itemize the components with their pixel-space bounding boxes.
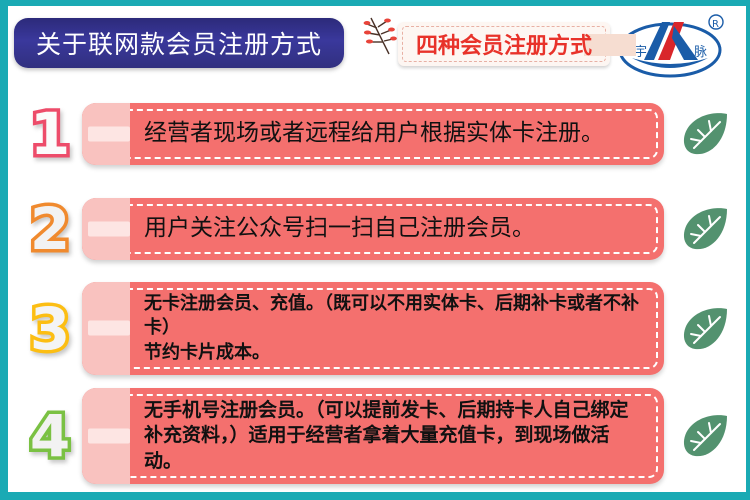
card-tab: [82, 388, 130, 485]
list-item: 1 经营者现场或者远程给用户根据实体卡注册。: [8, 86, 746, 181]
item-number-badge: 2: [8, 200, 82, 258]
item-number-badge: 3: [8, 300, 82, 358]
item-card: 经营者现场或者远程给用户根据实体卡注册。: [82, 103, 664, 165]
title-badge: 关于联网款会员注册方式: [14, 18, 344, 68]
item-text-line: 无手机号注册会员。（可以提前发卡、后期持卡人自己绑定: [144, 398, 646, 424]
logo-right-char: 脉: [694, 45, 707, 60]
item-number-badge: 4: [8, 407, 82, 465]
leaf-icon: [678, 303, 732, 355]
list-item: 4 无手机号注册会员。（可以提前发卡、后期持卡人自己绑定 补充资料，）适用于经营…: [8, 381, 746, 491]
red-branch-icon: [363, 14, 403, 62]
item-text-line: 经营者现场或者远程给用户根据实体卡注册。: [144, 118, 604, 149]
card-tab-slot: [88, 321, 130, 336]
card-tab: [82, 282, 130, 375]
subtitle-text: 四种会员注册方式: [416, 28, 592, 60]
item-number-badge: 1: [8, 105, 82, 163]
poster-content: 关于联网款会员注册方式: [8, 6, 746, 492]
card-tab-slot: [88, 221, 130, 236]
item-text-line: 补充资料，）适用于经营者拿着大量充值卡，到现场做活动。: [144, 423, 646, 474]
poster-frame: 关于联网款会员注册方式: [0, 0, 750, 500]
item-card: 用户关注公众号扫一扫自己注册会员。: [82, 198, 664, 260]
page-title: 关于联网款会员注册方式: [36, 25, 322, 61]
list-item: 2 用户关注公众号扫一扫自己注册会员。: [8, 181, 746, 276]
subtitle-badge: 四种会员注册方式: [398, 22, 610, 66]
item-text-line: 节约卡片成本。: [144, 341, 646, 365]
registered-mark: R: [712, 19, 719, 30]
leaf-icon: [678, 410, 732, 462]
item-card: 无手机号注册会员。（可以提前发卡、后期持卡人自己绑定 补充资料，）适用于经营者拿…: [82, 388, 664, 485]
item-text: 用户关注公众号扫一扫自己注册会员。: [144, 213, 535, 244]
item-text-line: 用户关注公众号扫一扫自己注册会员。: [144, 213, 535, 244]
card-tab-slot: [88, 428, 130, 443]
item-card: 无卡注册会员、充值。（既可以不用实体卡、后期补卡或者不补卡） 节约卡片成本。: [82, 282, 664, 375]
leaf-icon: [678, 203, 732, 255]
header: 关于联网款会员注册方式: [8, 6, 746, 86]
items-list: 1 经营者现场或者远程给用户根据实体卡注册。: [8, 86, 746, 491]
item-text-line: 无卡注册会员、充值。（既可以不用实体卡、后期补卡或者不补卡）: [144, 292, 646, 341]
list-item: 3 无卡注册会员、充值。（既可以不用实体卡、后期补卡或者不补卡） 节约卡片成本。: [8, 276, 746, 381]
item-text: 无手机号注册会员。（可以提前发卡、后期持卡人自己绑定 补充资料，）适用于经营者拿…: [144, 398, 646, 475]
card-tab: [82, 198, 130, 260]
card-tab: [82, 103, 130, 165]
leaf-icon: [678, 108, 732, 160]
item-text: 经营者现场或者远程给用户根据实体卡注册。: [144, 118, 604, 149]
item-text: 无卡注册会员、充值。（既可以不用实体卡、后期补卡或者不补卡） 节约卡片成本。: [144, 292, 646, 365]
card-tab-slot: [88, 126, 130, 141]
